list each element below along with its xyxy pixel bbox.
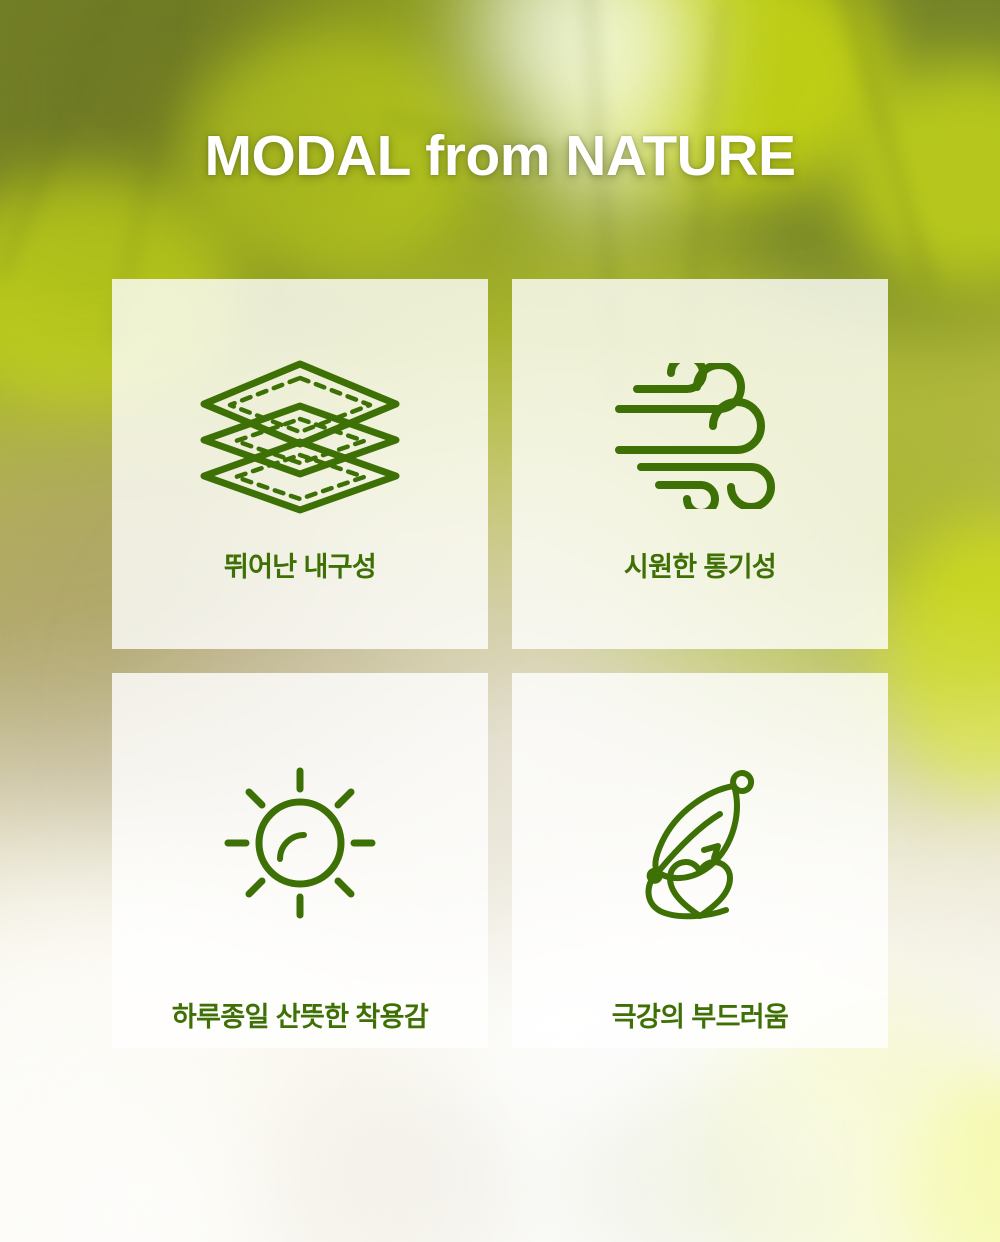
feature-card-softness[interactable]: 극강의 부드러움 (512, 673, 888, 1048)
sun-icon (224, 743, 376, 943)
feature-label: 하루종일 산뜻한 착용감 (172, 995, 428, 1034)
feather-heart-icon (638, 743, 762, 943)
page-title: MODAL from NATURE (0, 125, 1000, 188)
feature-card-durability[interactable]: 뛰어난 내구성 (112, 279, 488, 649)
promo-banner: MODAL from NATURE 뛰어난 내구성 (0, 0, 1000, 1242)
feature-card-freshness[interactable]: 하루종일 산뜻한 착용감 (112, 673, 488, 1048)
layers-diamond-icon (194, 341, 406, 531)
feature-label: 뛰어난 내구성 (224, 545, 376, 584)
wind-icon (615, 341, 785, 531)
feature-label: 극강의 부드러움 (612, 995, 789, 1034)
feature-grid: 뛰어난 내구성 시원한 통기성 (112, 279, 888, 1048)
feature-label: 시원한 통기성 (624, 545, 776, 584)
feature-card-breathability[interactable]: 시원한 통기성 (512, 279, 888, 649)
